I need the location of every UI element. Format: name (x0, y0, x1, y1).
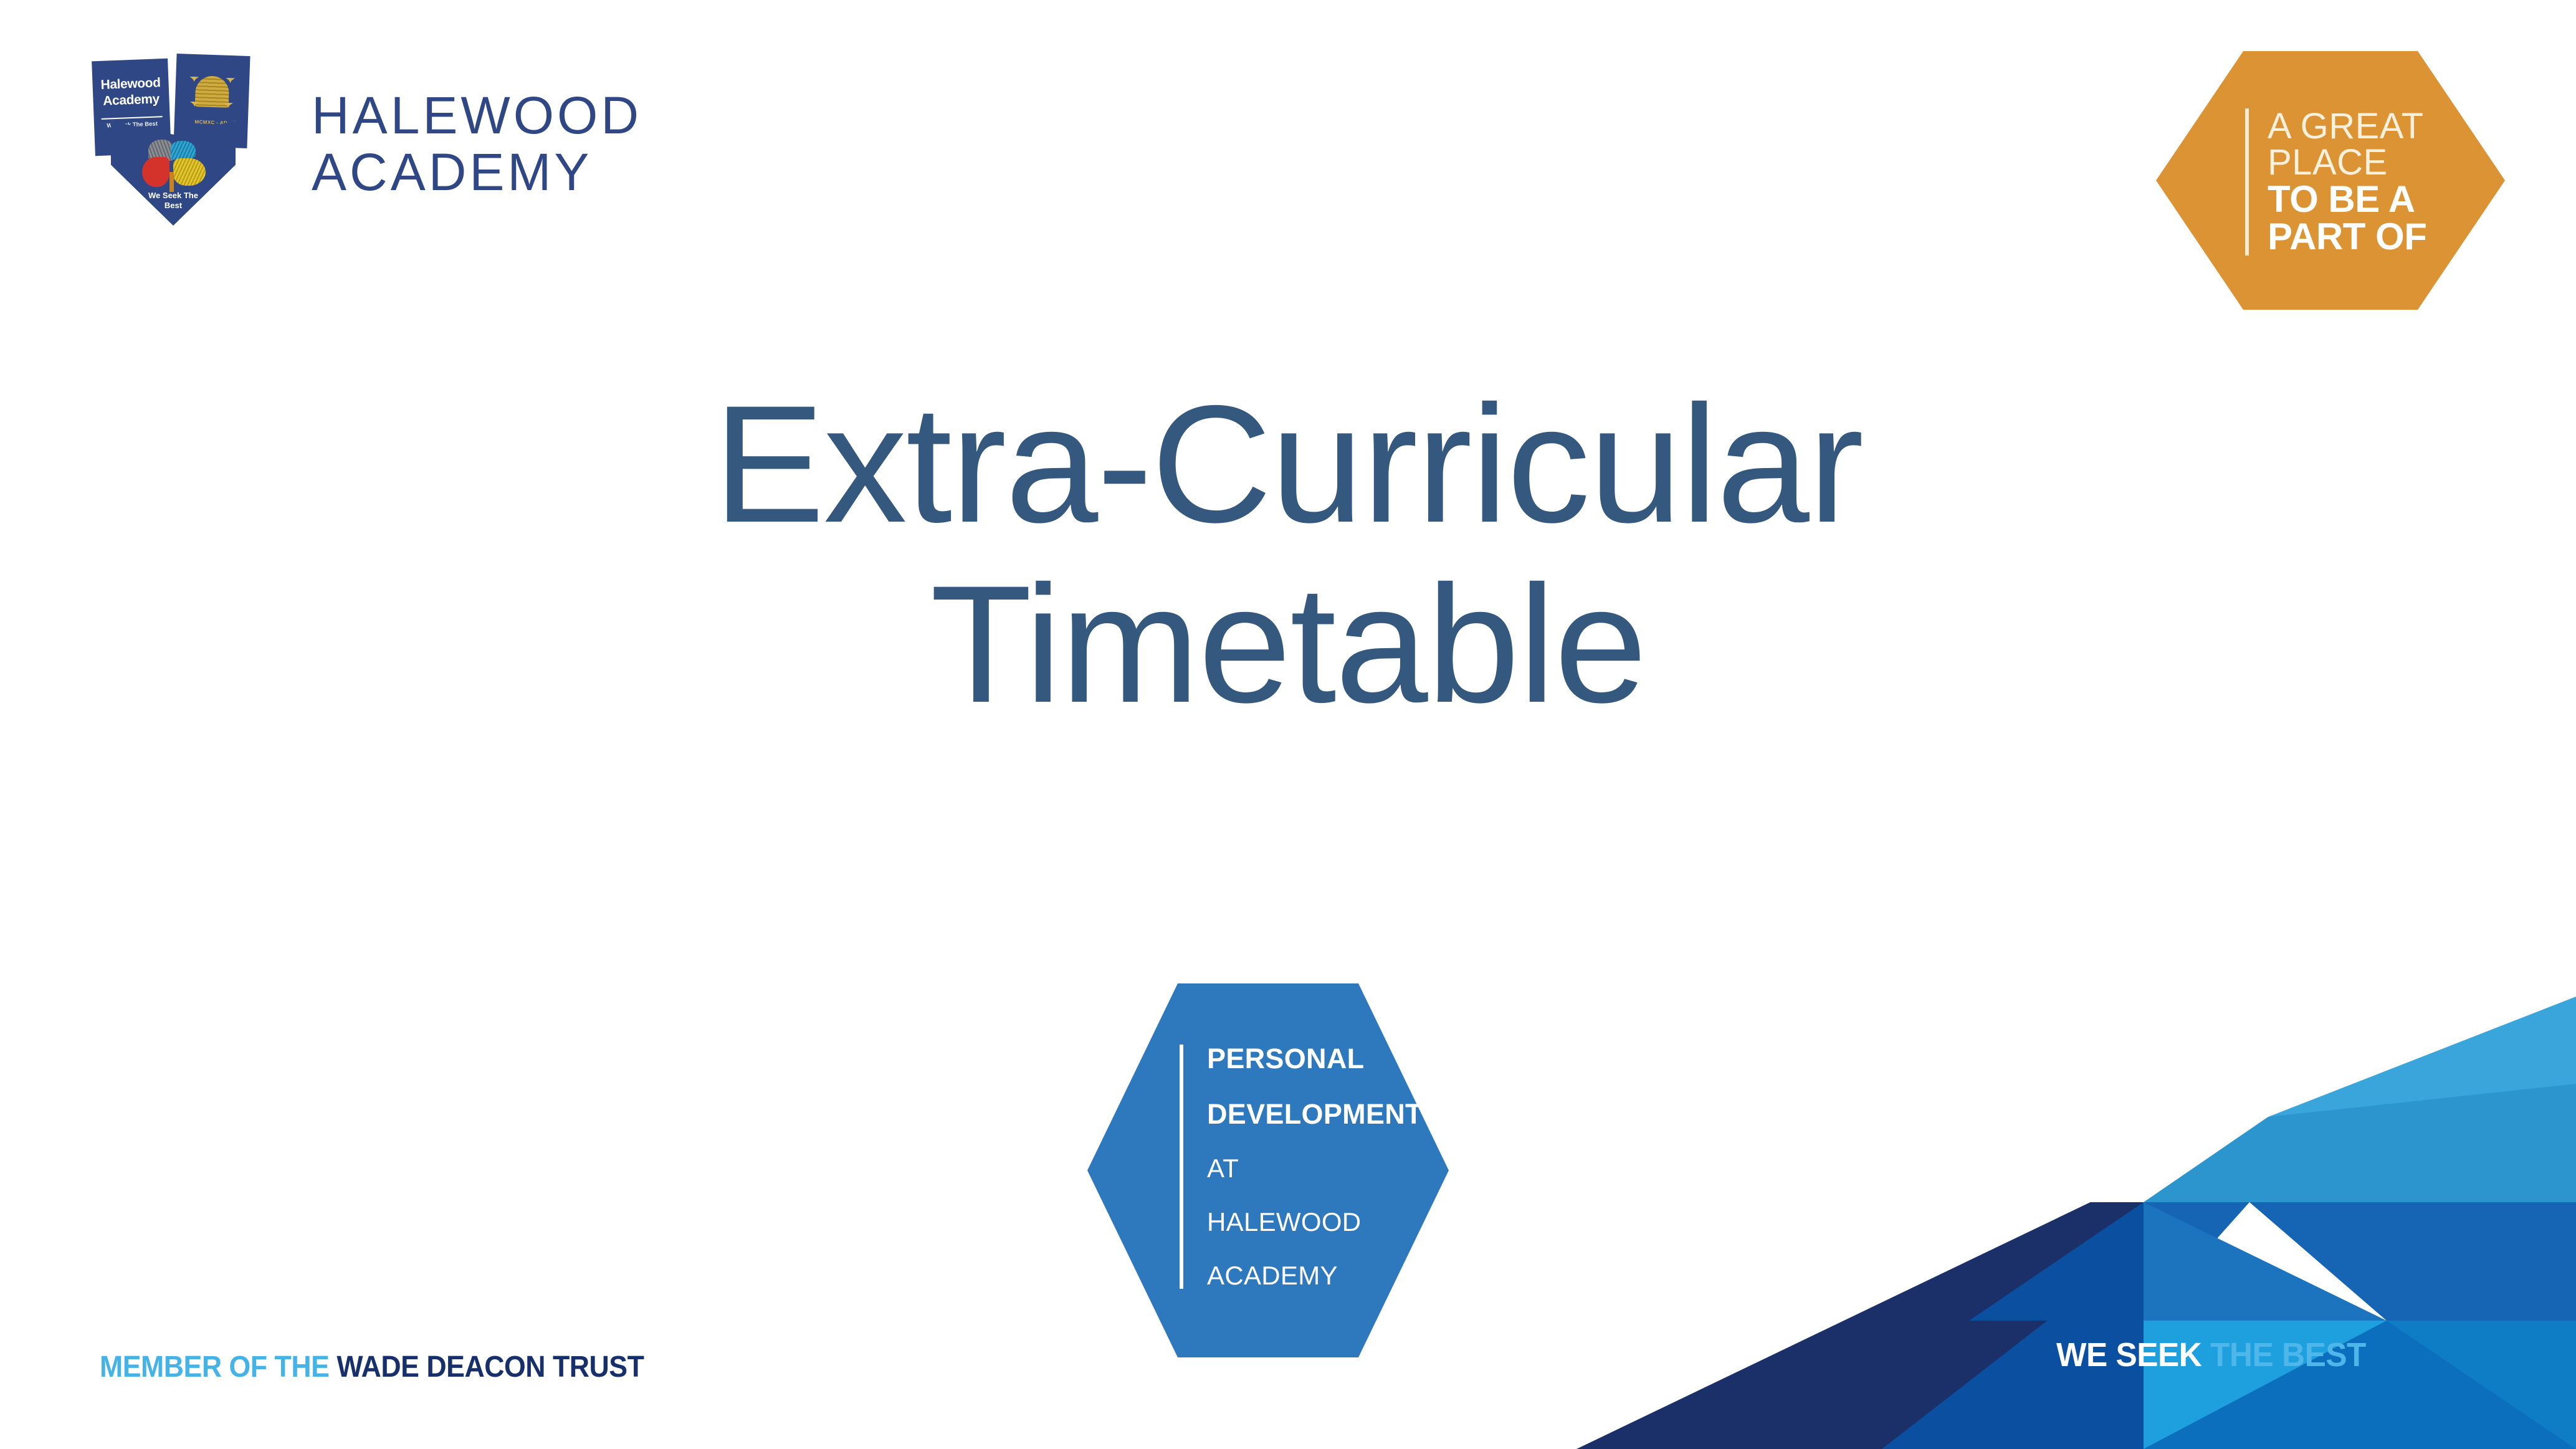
wordmark-line-1: HALEWOOD (312, 87, 642, 144)
crest-motto: We Seek The Best (111, 191, 236, 211)
tree-leaf-cyan (171, 141, 196, 160)
halewood-academy-wordmark: HALEWOOD ACADEMY (312, 87, 642, 200)
great-place-line-3: TO BE A (2268, 181, 2426, 218)
personal-development-line-4: HALEWOOD (1207, 1209, 1423, 1235)
personal-development-line-3: AT (1207, 1155, 1423, 1182)
slogan-prefix: WE SEEK (2056, 1336, 2202, 1374)
tree-trunk (169, 172, 174, 192)
bee-icon (189, 77, 199, 82)
personal-development-hexagon-badge: PERSONAL DEVELOPMENT AT HALEWOOD ACADEMY (1087, 983, 1449, 1357)
page-title: Extra-Curricular Timetable (0, 374, 2576, 735)
trust-membership-name: WADE DEACON TRUST (336, 1351, 644, 1384)
great-place-badge-text: A GREAT PLACE TO BE A PART OF (2245, 108, 2426, 256)
page-title-line-1: Extra-Curricular (0, 374, 2576, 554)
personal-development-line-1: PERSONAL (1207, 1045, 1423, 1073)
bee-icon (226, 78, 235, 84)
beehive-icon (189, 75, 234, 112)
great-place-line-1: A GREAT (2268, 108, 2426, 145)
crest-motto-line-1: We Seek The (111, 191, 236, 201)
we-seek-the-best-slogan: WE SEEK THE BEST (2056, 1336, 2366, 1374)
page-title-line-2: Timetable (0, 554, 2576, 734)
crest-founding-date: MCMXC - AD (174, 118, 248, 127)
crest-name-line-2: Academy (93, 90, 169, 109)
wordmark-line-2: ACADEMY (312, 144, 642, 201)
tree-leaf-yellow (173, 158, 206, 186)
slide-canvas: Halewood Academy We Seek The Best MCMXC … (0, 0, 2576, 1449)
great-place-line-4: PART OF (2268, 218, 2426, 256)
tree-icon (138, 140, 208, 189)
slogan-suffix: THE BEST (2202, 1336, 2366, 1374)
great-place-line-2: PLACE (2268, 145, 2426, 181)
tree-leaf-red (142, 157, 169, 187)
trust-membership-footer: MEMBER OF THE WADE DEACON TRUST (100, 1350, 644, 1384)
halewood-academy-crest-logo: Halewood Academy We Seek The Best MCMXC … (92, 49, 260, 229)
trust-membership-prefix: MEMBER OF THE (100, 1351, 336, 1384)
personal-development-line-5: ACADEMY (1207, 1263, 1423, 1289)
crest-shield: We Seek The Best (111, 121, 236, 226)
crest-motto-line-2: Best (111, 201, 236, 211)
crest-name-panel-title: Halewood Academy (92, 75, 169, 110)
personal-development-line-2: DEVELOPMENT (1207, 1100, 1423, 1128)
geometric-decoration-svg (1496, 997, 2576, 1449)
great-place-hexagon-badge: A GREAT PLACE TO BE A PART OF (2156, 51, 2505, 310)
geometric-decoration (1496, 997, 2576, 1449)
personal-development-badge-text: PERSONAL DEVELOPMENT AT HALEWOOD ACADEMY (1180, 1045, 1423, 1289)
